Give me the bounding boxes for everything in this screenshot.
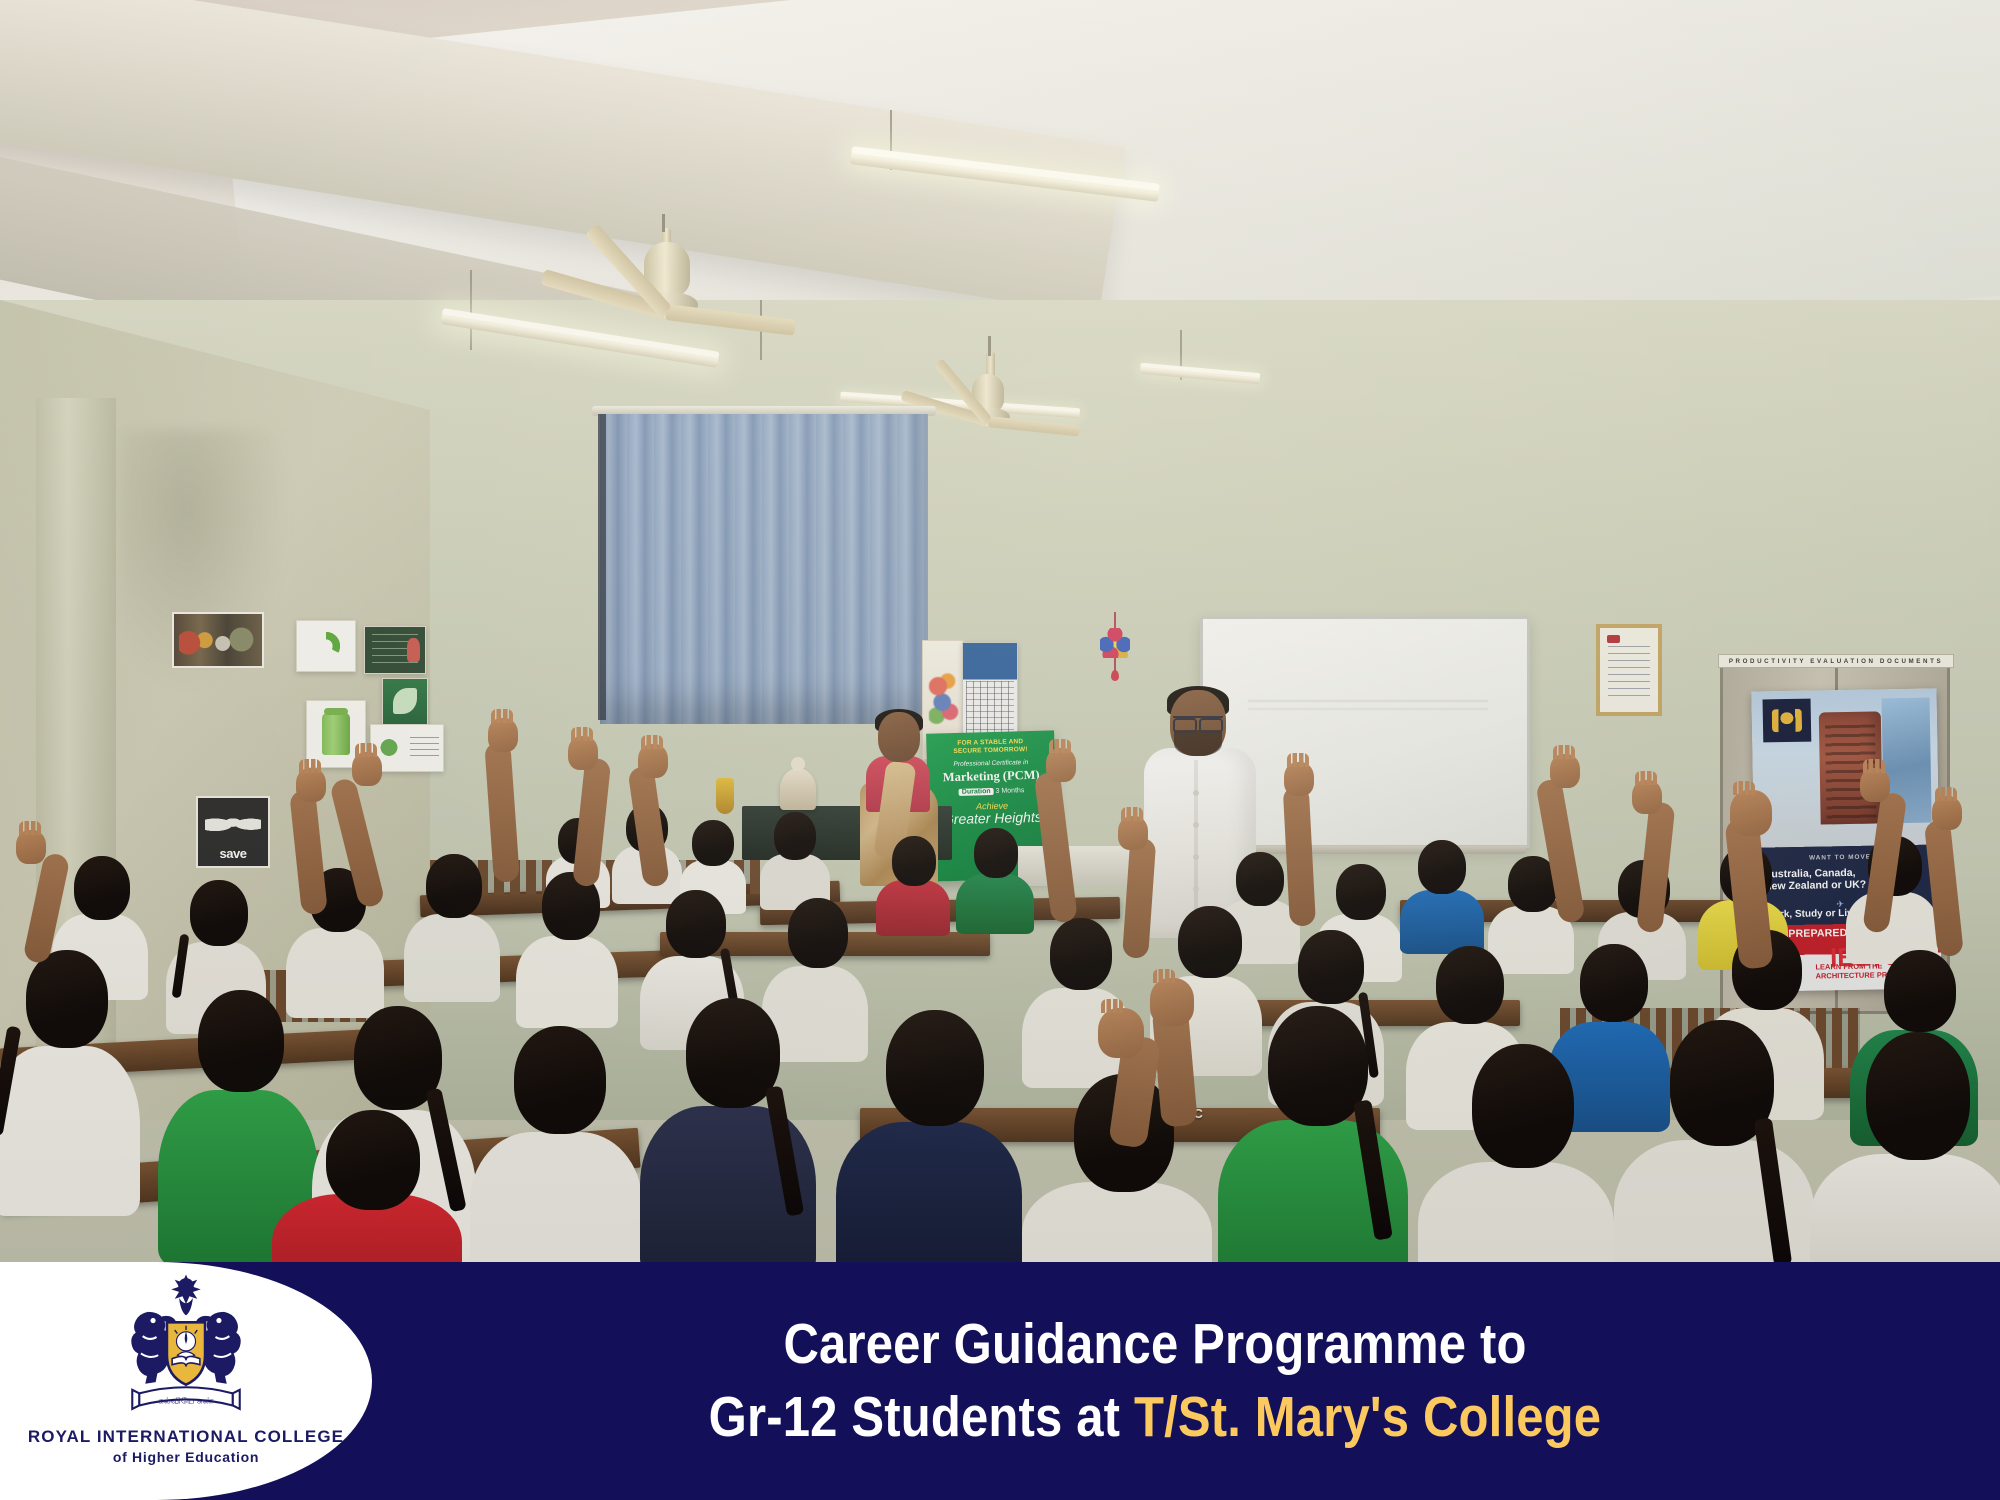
save-poster-text: save — [198, 846, 268, 861]
hanging-flower-ornament — [1100, 612, 1130, 686]
footer-headline: Career Guidance Programme to Gr-12 Stude… — [390, 1262, 2000, 1500]
poster-cityscape-photo — [1751, 688, 1939, 847]
oil-lamp — [716, 778, 734, 814]
student — [1614, 1020, 1814, 1268]
event-poster: save FOR A STABLE AND SECURE TOMORROW! P… — [0, 0, 2000, 1500]
student — [1400, 840, 1484, 952]
light-hanger — [470, 270, 472, 350]
student — [640, 998, 816, 1268]
headline-line-1: Career Guidance Programme to — [783, 1316, 1526, 1373]
student — [760, 812, 830, 908]
pcm-banner-top-line2: SECURE TOMORROW! — [931, 745, 1049, 756]
student — [404, 854, 500, 996]
student — [470, 1026, 642, 1268]
curtain-edge — [598, 414, 606, 720]
logo-panel: கல்வியே கண் ROYAL INTERNATIONAL COLLEGE … — [0, 1262, 372, 1500]
headline-line-2-prefix: Gr-12 Students at — [709, 1385, 1134, 1449]
save-water-poster: save — [196, 796, 270, 868]
classroom-photo: save FOR A STABLE AND SECURE TOMORROW! P… — [0, 0, 2000, 1268]
brand-subtitle: of Higher Education — [113, 1449, 259, 1465]
green-chalkboard-poster — [364, 626, 426, 674]
headline-venue-highlight: T/St. Mary's College — [1134, 1385, 1601, 1449]
headline-line-2: Gr-12 Students at T/St. Mary's College — [709, 1389, 1602, 1446]
table-cloth — [1018, 846, 1130, 886]
ceiling-fan — [580, 228, 860, 368]
brand-name: ROYAL INTERNATIONAL COLLEGE — [28, 1428, 344, 1446]
cabinet-label: PRODUCTIVITY EVALUATION DOCUMENTS — [1718, 654, 1954, 668]
fan-blade — [987, 416, 1080, 437]
pcm-duration-tag: Duration — [959, 788, 994, 796]
student — [1218, 1006, 1408, 1268]
wall-calendar — [962, 642, 1018, 740]
student — [0, 950, 140, 1210]
student — [836, 1010, 1022, 1268]
student — [1810, 1032, 2000, 1268]
water-drop-icon — [205, 808, 261, 837]
college-crest-logo: கல்வியே கண் — [98, 1272, 274, 1428]
svg-text:கல்வியே கண்: கல்வியே கண் — [158, 1397, 214, 1407]
fan-hook — [662, 214, 665, 232]
pcm-banner-title: Marketing (PCM) — [932, 768, 1050, 786]
framed-certificate — [1596, 624, 1662, 716]
pcm-banner-duration: Duration 3 Months — [933, 787, 1051, 797]
student — [956, 828, 1034, 932]
fan-hook — [988, 336, 991, 356]
student — [516, 872, 618, 1024]
ceiling-fan — [930, 352, 1120, 452]
footer-bar: கல்வியே கண் ROYAL INTERNATIONAL COLLEGE … — [0, 1262, 2000, 1500]
statue-ornament — [780, 768, 816, 810]
pcm-duration-value: 3 Months — [995, 787, 1024, 795]
student — [876, 836, 950, 932]
poster-college-logo — [1763, 698, 1812, 743]
window-curtain — [600, 414, 928, 724]
glasses-icon — [1173, 716, 1223, 727]
recycling-symbol-poster — [296, 620, 356, 672]
environment-photo-collage-poster — [172, 612, 264, 668]
student — [1418, 1044, 1614, 1268]
student — [272, 1110, 462, 1268]
fan-blade — [665, 304, 796, 336]
